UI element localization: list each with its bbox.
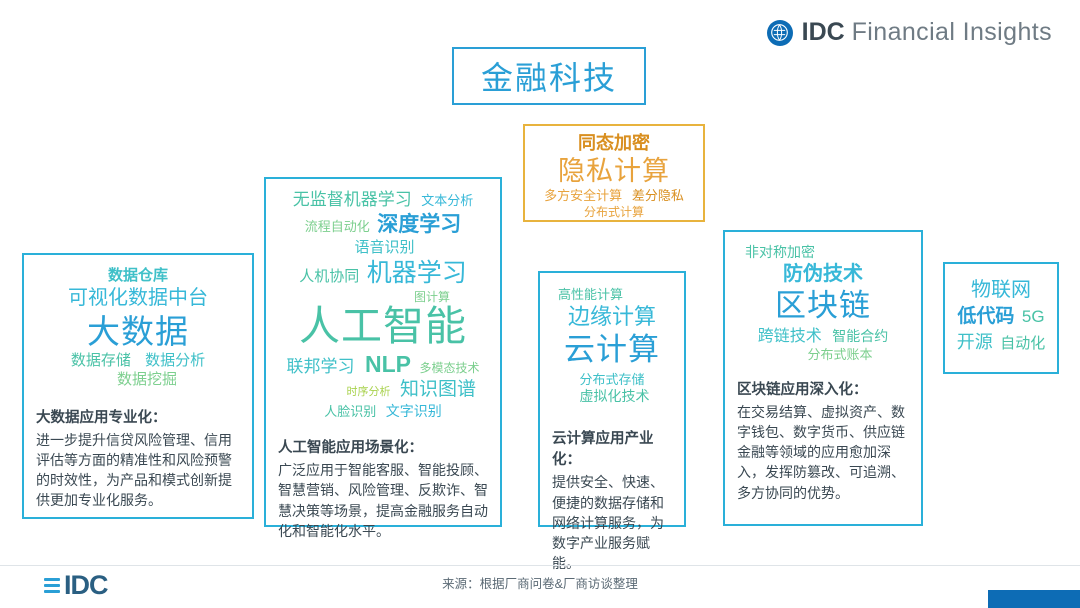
- wordcloud-cloud: 高性能计算 边缘计算 云计算 分布式存储 虚拟化技术: [540, 273, 684, 405]
- wordcloud-privacy: 同态加密 隐私计算 多方安全计算 差分隐私 分布式计算: [525, 126, 703, 220]
- word: 非对称加密: [735, 244, 911, 262]
- desc-heading: 区块链应用深入化：: [737, 378, 909, 399]
- word: 高性能计算: [550, 287, 674, 303]
- word: 无监督机器学习: [293, 189, 412, 210]
- desc-body: 提供安全、快速、便捷的数据存储和网络计算服务，为数字产业服务赋能。: [552, 472, 672, 573]
- desc-blockchain: 区块链应用深入化： 在交易结算、虚拟资产、数字钱包、数字货币、供应链金融等领域的…: [725, 378, 921, 513]
- word: 云计算: [550, 331, 674, 370]
- word: 数据分析: [145, 352, 205, 371]
- desc-heading: 云计算应用产业化：: [552, 427, 672, 469]
- word: 知识图谱: [400, 378, 476, 402]
- card-artificial-intelligence: 无监督机器学习 文本分析 流程自动化 深度学习 语音识别 人机协同 机器学习 图…: [264, 177, 502, 527]
- desc-cloud: 云计算应用产业化： 提供安全、快速、便捷的数据存储和网络计算服务，为数字产业服务…: [540, 427, 684, 583]
- word: NLP: [365, 350, 411, 379]
- word: 数据仓库: [34, 267, 242, 286]
- word: 文本分析: [421, 193, 473, 209]
- word: 分布式存储: [579, 372, 644, 388]
- word: 可视化数据中台: [34, 286, 242, 311]
- desc-heading: 大数据应用专业化：: [36, 406, 240, 427]
- wordcloud-big-data: 数据仓库 可视化数据中台 大数据 数据存储 数据分析 数据挖掘: [24, 255, 252, 390]
- word: 分布式账本: [769, 347, 911, 363]
- brand-name-bold: IDC: [802, 18, 852, 46]
- brand-name-light: Financial Insights: [852, 18, 1052, 46]
- word: 联邦学习: [287, 356, 355, 377]
- wordcloud-ai: 无监督机器学习 文本分析 流程自动化 深度学习 语音识别 人机协同 机器学习 图…: [266, 179, 500, 422]
- word: 隐私计算: [535, 155, 693, 189]
- page-title-text: 金融科技: [481, 53, 617, 99]
- desc-ai: 人工智能应用场景化： 广泛应用于智能客服、智能投顾、智慧营销、风险管理、反欺诈、…: [266, 436, 500, 551]
- word: 时序分析: [347, 386, 391, 400]
- word: 流程自动化: [305, 219, 370, 235]
- page-title: 金融科技: [452, 47, 646, 105]
- word: 数据挖掘: [52, 371, 242, 390]
- word: 语音识别: [354, 239, 414, 258]
- desc-body: 在交易结算、虚拟资产、数字钱包、数字货币、供应链金融等领域的应用愈加深入，发挥防…: [737, 402, 909, 503]
- desc-body: 进一步提升信贷风险管理、信用评估等方面的精准性和风险预警的时效性，为产品和模式创…: [36, 430, 240, 511]
- word: 机器学习: [367, 258, 467, 289]
- word: 边缘计算: [550, 303, 674, 331]
- word: 差分隐私: [632, 188, 684, 204]
- word: 防伪技术: [735, 262, 911, 287]
- brand-logo: IDC Financial Insights: [767, 18, 1052, 47]
- word: 数据存储: [71, 352, 131, 371]
- word: 同态加密: [535, 132, 693, 155]
- wordcloud-blockchain: 非对称加密 防伪技术 区块链 跨链技术 智能合约 分布式账本: [725, 232, 921, 364]
- word: 智能合约: [832, 328, 888, 346]
- footer-source: 来源：根据厂商问卷&厂商访谈整理: [0, 573, 1080, 592]
- desc-big-data: 大数据应用专业化： 进一步提升信贷风险管理、信用评估等方面的精准性和风险预警的时…: [24, 406, 252, 521]
- footer-accent-block: [988, 590, 1080, 608]
- word: 自动化: [1000, 335, 1045, 354]
- word: 低代码: [957, 305, 1014, 329]
- word: 5G: [1022, 306, 1045, 327]
- word: 物联网: [955, 278, 1047, 303]
- card-cloud-computing: 高性能计算 边缘计算 云计算 分布式存储 虚拟化技术 云计算应用产业化： 提供安…: [538, 271, 686, 527]
- idc-globe-icon: [767, 20, 793, 46]
- footer-divider: [0, 565, 1080, 566]
- card-big-data: 数据仓库 可视化数据中台 大数据 数据存储 数据分析 数据挖掘 大数据应用专业化…: [22, 253, 254, 519]
- word: 人机协同: [299, 268, 359, 287]
- word: 虚拟化技术: [580, 388, 650, 406]
- wordcloud-iot: 物联网 低代码 5G 开源 自动化: [945, 264, 1057, 354]
- word: 多方安全计算: [544, 188, 622, 204]
- desc-heading: 人工智能应用场景化：: [278, 436, 488, 457]
- word: 人脸识别: [324, 404, 376, 420]
- word: 深度学习: [377, 212, 461, 238]
- card-privacy-computing: 同态加密 隐私计算 多方安全计算 差分隐私 分布式计算: [523, 124, 705, 222]
- desc-body: 广泛应用于智能客服、智能投顾、智慧营销、风险管理、反欺诈、智慧决策等场景，提高金…: [278, 460, 488, 541]
- word: 区块链: [735, 287, 911, 326]
- word: 文字识别: [386, 403, 442, 421]
- word: 多模态技术: [419, 361, 479, 376]
- word: 开源: [957, 331, 993, 354]
- card-blockchain: 非对称加密 防伪技术 区块链 跨链技术 智能合约 分布式账本 区块链应用深入化：…: [723, 230, 923, 526]
- word: 分布式计算: [535, 205, 693, 220]
- card-iot: 物联网 低代码 5G 开源 自动化: [943, 262, 1059, 374]
- word: 大数据: [34, 311, 242, 352]
- word: 跨链技术: [758, 327, 822, 347]
- brand-text: IDC Financial Insights: [802, 18, 1052, 47]
- word: 人工智能: [276, 305, 490, 348]
